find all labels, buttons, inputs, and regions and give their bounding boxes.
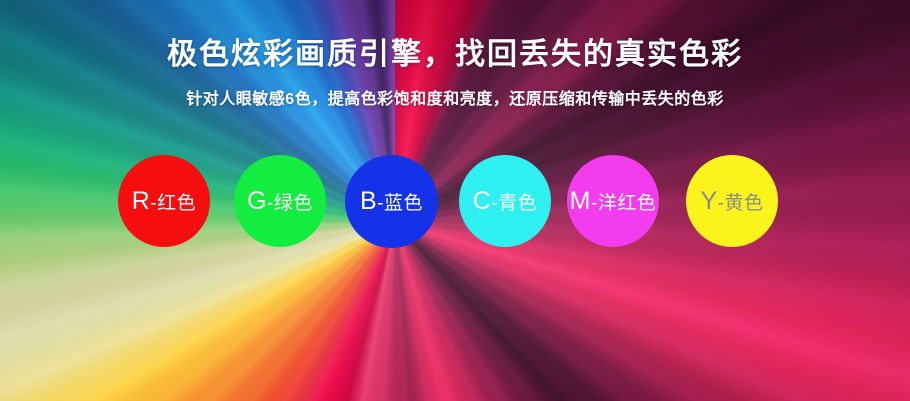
color-badge-yellow[interactable]: Y-黄色 (686, 155, 778, 247)
color-badge-green-letter: G (247, 187, 267, 215)
color-badge-magenta[interactable]: M-洋红色 (567, 155, 659, 247)
color-engine-banner: 极色炫彩画质引擎，找回丢失的真实色彩 针对人眼敏感6色，提高色彩饱和度和亮度，还… (0, 0, 910, 401)
color-badge-cyan-label: C-青色 (473, 189, 537, 214)
color-badge-blue-label: B-蓝色 (360, 189, 423, 214)
color-badge-magenta-letter: M (570, 187, 591, 215)
color-badge-cyan[interactable]: C-青色 (459, 155, 551, 247)
color-badge-yellow-letter: Y (700, 187, 717, 215)
color-badge-green-name: -绿色 (267, 193, 313, 214)
color-badge-green[interactable]: G-绿色 (234, 155, 326, 247)
color-badge-green-label: G-绿色 (247, 189, 313, 214)
color-badge-blue-name: -蓝色 (377, 193, 423, 214)
banner-headline: 极色炫彩画质引擎，找回丢失的真实色彩 (0, 0, 910, 74)
color-badge-blue-letter: B (360, 187, 377, 215)
color-badge-red-label: R-红色 (132, 189, 196, 214)
color-badge-yellow-label: Y-黄色 (700, 189, 763, 214)
color-badge-yellow-name: -黄色 (718, 193, 764, 214)
banner-copy: 极色炫彩画质引擎，找回丢失的真实色彩 针对人眼敏感6色，提高色彩饱和度和亮度，还… (0, 0, 910, 110)
color-badge-blue[interactable]: B-蓝色 (345, 155, 438, 248)
color-badge-magenta-label: M-洋红色 (570, 189, 657, 214)
color-badge-magenta-name: -洋红色 (591, 193, 656, 214)
color-badge-red[interactable]: R-红色 (118, 155, 210, 247)
color-badge-red-letter: R (132, 187, 151, 215)
color-badge-red-name: -红色 (150, 193, 196, 214)
color-badge-cyan-name: -青色 (491, 193, 537, 214)
color-badge-cyan-letter: C (473, 187, 492, 215)
color-badge-group: R-红色 G-绿色 B-蓝色 C-青色 M-洋红色 Y-黄色 (0, 155, 910, 251)
banner-subheadline: 针对人眼敏感6色，提高色彩饱和度和亮度，还原压缩和传输中丢失的色彩 (0, 74, 910, 111)
